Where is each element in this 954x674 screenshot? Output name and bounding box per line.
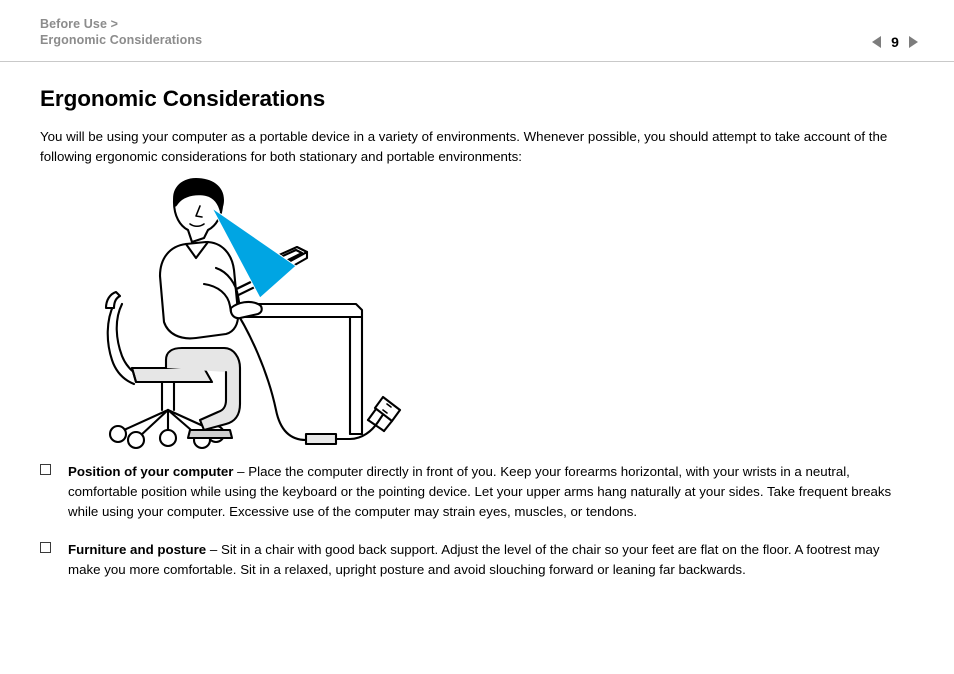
square-bullet-icon [40,464,51,475]
page-navigation: 9 [872,34,918,50]
ergonomics-figure-svg [100,172,430,457]
breadcrumb-line-2: Ergonomic Considerations [40,32,202,48]
triangle-left-icon[interactable] [872,36,881,48]
ergonomics-illustration [100,172,430,457]
breadcrumb-line-1: Before Use > [40,16,202,32]
document-page: Before Use > Ergonomic Considerations 9 … [0,0,954,674]
page-title: Ergonomic Considerations [40,86,915,112]
intro-paragraph: You will be using your computer as a por… [40,127,913,167]
bullet-list: Position of your computer – Place the co… [40,462,915,598]
breadcrumb: Before Use > Ergonomic Considerations [40,16,202,48]
page-number: 9 [890,34,900,50]
list-item: Position of your computer – Place the co… [40,462,915,522]
main-content: Ergonomic Considerations You will be usi… [40,86,915,167]
header-divider [0,61,954,62]
bullet-term: Position of your computer [68,464,233,479]
square-bullet-icon [40,542,51,553]
page-header: Before Use > Ergonomic Considerations 9 [0,0,954,62]
bullet-term: Furniture and posture [68,542,206,557]
bullet-dash: – [206,542,221,557]
triangle-right-icon[interactable] [909,36,918,48]
bullet-dash: – [233,464,248,479]
list-item: Furniture and posture – Sit in a chair w… [40,540,915,580]
